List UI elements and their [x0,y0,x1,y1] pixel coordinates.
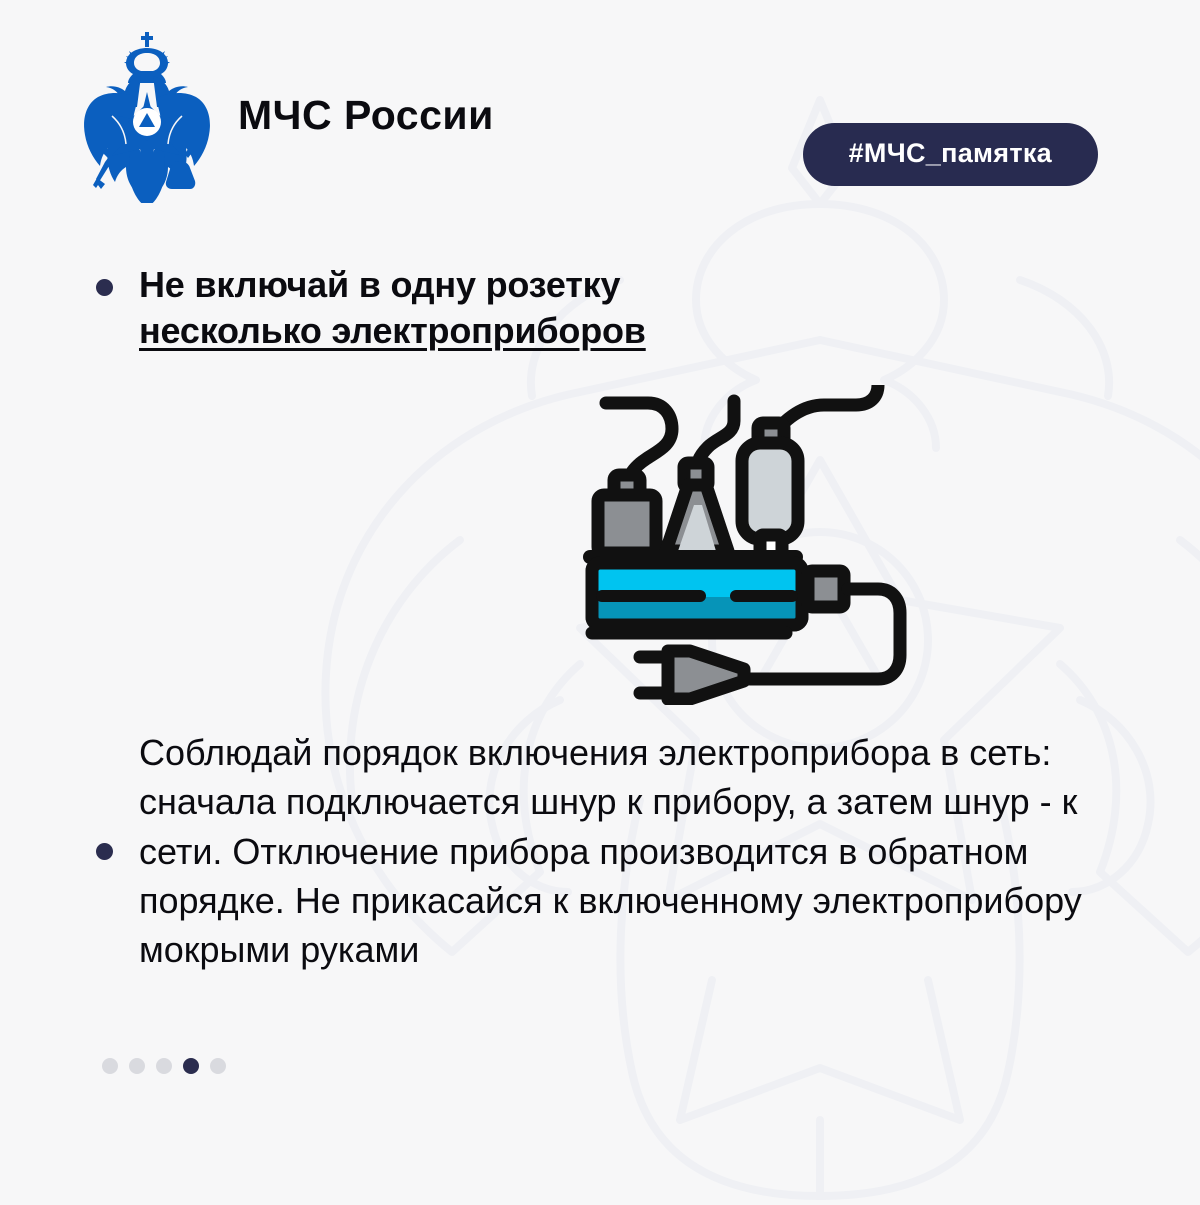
pagination-dot-5[interactable] [210,1058,226,1074]
rounded-adapter-plug [742,423,798,557]
tapered-plug [666,463,728,551]
headline-block: Не включай в одну розетку несколько элек… [96,262,1116,354]
infographic-card: МЧС России #МЧС_памятка Не включай в одн… [0,0,1200,1200]
body-bullet-icon [96,843,113,860]
headline-line-1: Не включай в одну розетку [139,262,646,308]
body-text: Соблюдай порядок включения электроприбор… [139,728,1089,975]
mchs-eagle-emblem-icon [82,28,212,203]
pagination-dot-4[interactable] [183,1058,199,1074]
overloaded-power-strip-illustration [582,385,912,705]
rectangular-adapter-plug [598,475,656,553]
body-block: Соблюдай порядок включения электроприбор… [96,728,1156,975]
pagination-dot-3[interactable] [156,1058,172,1074]
headline-line-2: несколько электроприборов [139,308,646,354]
hashtag-badge[interactable]: #МЧС_памятка [803,123,1098,186]
headline-bullet-icon [96,279,113,296]
strip-cord-connector [808,571,844,607]
brand-name: МЧС России [238,92,494,139]
headline-text: Не включай в одну розетку несколько элек… [139,262,646,354]
power-strip-body [592,563,802,633]
header: МЧС России #МЧС_памятка [0,0,1200,220]
two-prong-wall-plug [640,651,744,699]
pagination-dot-1[interactable] [102,1058,118,1074]
pagination-dots[interactable] [102,1058,226,1074]
pagination-dot-2[interactable] [129,1058,145,1074]
brand-lockup: МЧС России [82,28,494,203]
